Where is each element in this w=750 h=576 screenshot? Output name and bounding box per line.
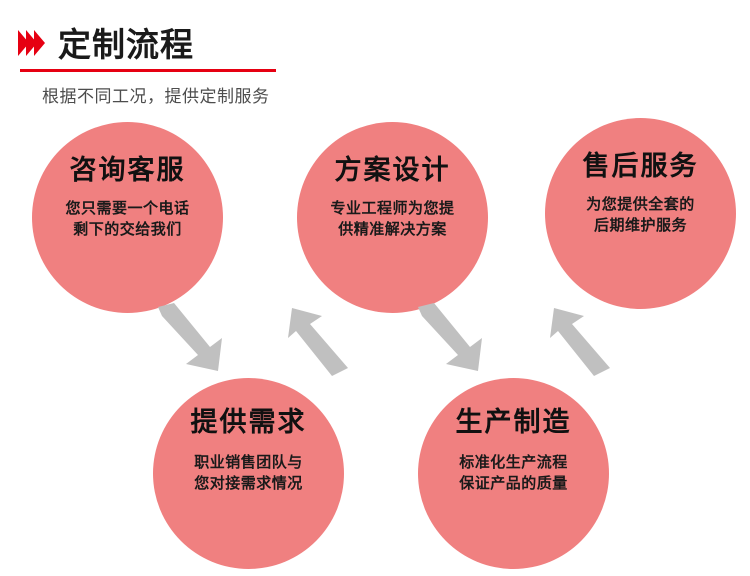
step-circle-design[interactable]: 方案设计 专业工程师为您提 供精准解决方案 [297,122,488,313]
double-chevron-right-icon [18,30,42,56]
header-underline [20,69,276,72]
step-description-line: 职业销售团队与 [194,452,303,473]
step-circle-aftersales[interactable]: 售后服务 为您提供全套的 后期维护服务 [545,118,736,309]
step-description: 标准化生产流程 保证产品的质量 [459,452,568,494]
step-description: 您只需要一个电话 剩下的交给我们 [65,198,189,240]
page-subtitle: 根据不同工况，提供定制服务 [42,82,270,107]
step-circle-consult[interactable]: 咨询客服 您只需要一个电话 剩下的交给我们 [32,122,223,313]
step-title: 提供需求 [191,408,307,438]
page-header: 定制流程 [14,16,304,74]
step-description-line: 后期维护服务 [586,215,695,236]
step-title: 咨询客服 [70,156,186,186]
arrow-up-right-icon [286,306,358,378]
step-description-line: 剩下的交给我们 [65,219,189,240]
step-description-line: 保证产品的质量 [459,473,568,494]
step-description-line: 为您提供全套的 [586,194,695,215]
step-title: 生产制造 [456,408,572,438]
arrow-down-right-icon [412,303,484,375]
step-circle-requirements[interactable]: 提供需求 职业销售团队与 您对接需求情况 [153,378,344,569]
step-description-line: 供精准解决方案 [330,219,454,240]
header-row: 定制流程 [14,16,304,62]
step-description-line: 专业工程师为您提 [330,198,454,219]
step-description: 专业工程师为您提 供精准解决方案 [330,198,454,240]
custom-process-infographic: 定制流程 根据不同工况，提供定制服务 咨询客服 您只需要一个电话 剩下的交给我们… [0,0,750,576]
step-circle-manufacturing[interactable]: 生产制造 标准化生产流程 保证产品的质量 [418,378,609,569]
step-description: 为您提供全套的 后期维护服务 [586,194,695,236]
arrow-down-right-icon [152,303,224,375]
step-description-line: 您对接需求情况 [194,473,303,494]
step-description-line: 标准化生产流程 [459,452,568,473]
page-title: 定制流程 [58,28,194,62]
step-description-line: 您只需要一个电话 [65,198,189,219]
step-description: 职业销售团队与 您对接需求情况 [194,452,303,494]
arrow-up-right-icon [548,306,620,378]
step-title: 售后服务 [583,152,699,182]
step-title: 方案设计 [335,156,451,186]
